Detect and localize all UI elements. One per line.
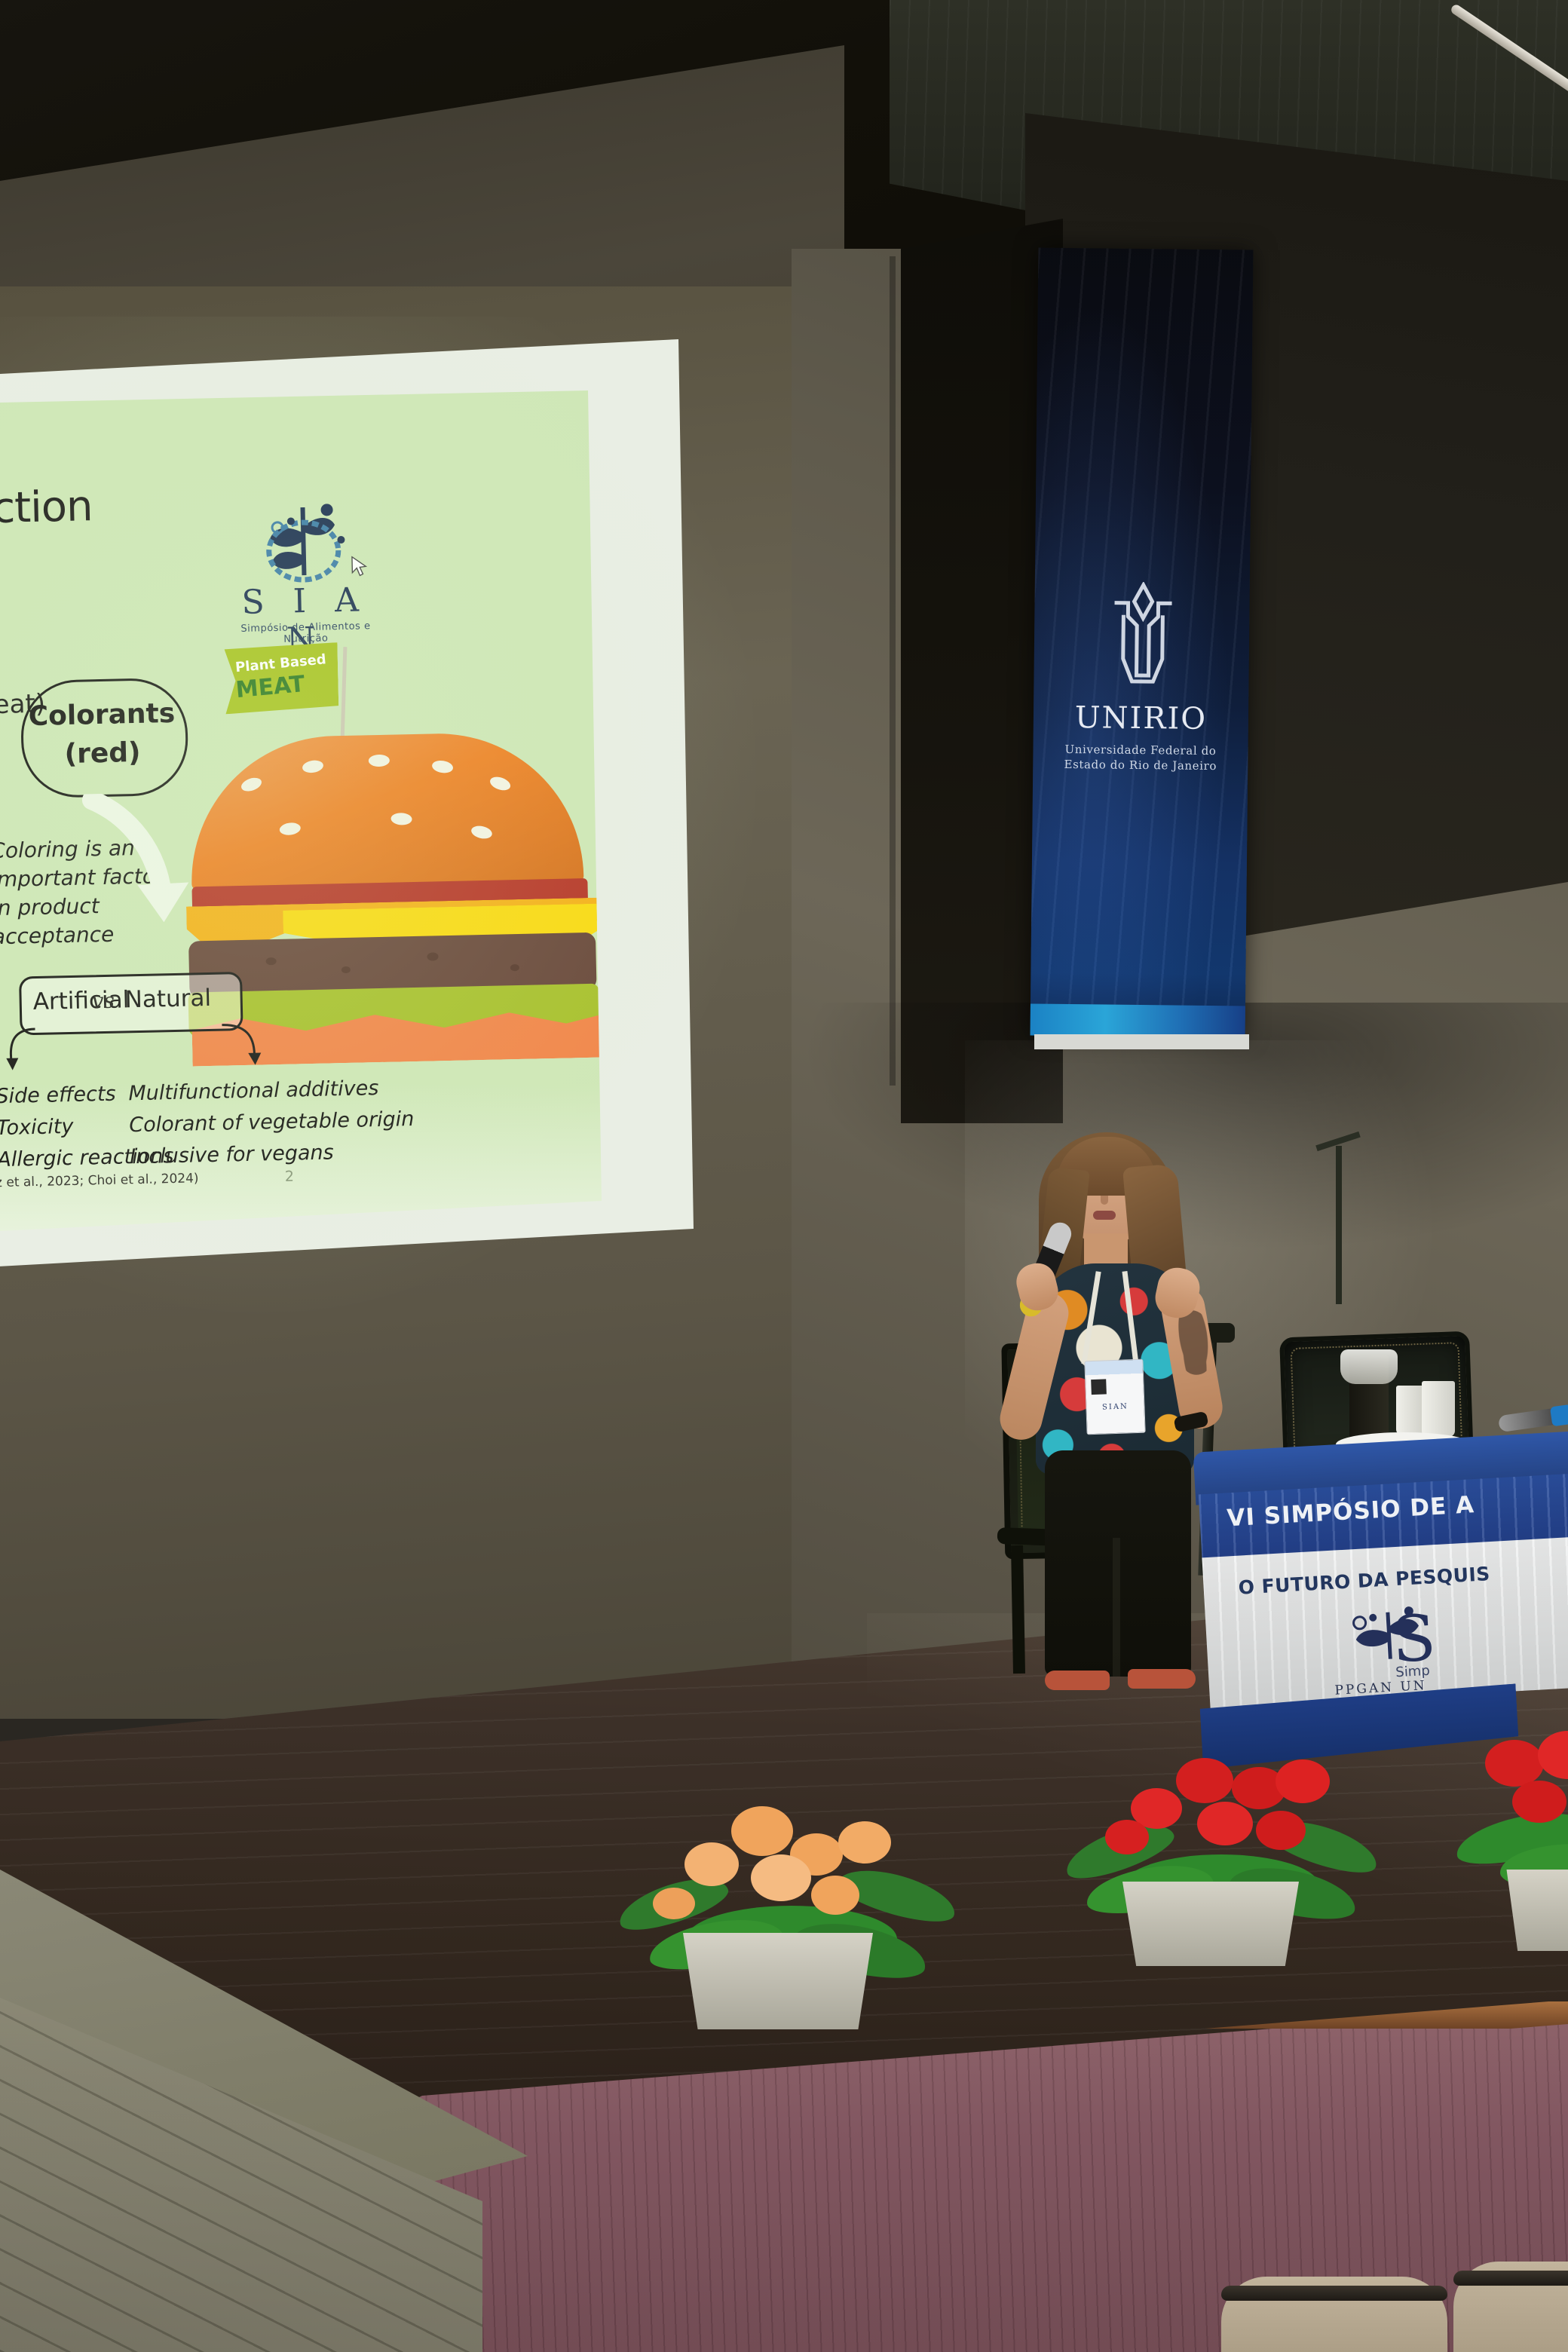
list-item: Inclusive for vegans <box>130 1135 415 1173</box>
banner-base <box>1034 1034 1249 1049</box>
red-flower-planter-right <box>1455 1726 1568 1952</box>
presentation-slide: troduction based meat) 38%) <box>0 390 633 1235</box>
slide-citation: Fernández-López et al., 2023; Choi et al… <box>0 1171 199 1193</box>
badge-text: SIAN <box>1086 1402 1144 1413</box>
wall-rod <box>1336 1146 1342 1304</box>
speaker-presenter: SIAN <box>995 1116 1221 1719</box>
sian-tagline: Simpósio de Alimentos e Nutrição <box>221 620 391 647</box>
head-table: VI SIMPÓSIO DE A O FUTURO DA PESQUIS S S… <box>1193 1431 1568 1716</box>
screenshot-root: troduction based meat) 38%) <box>0 0 1568 2352</box>
planter-pot <box>672 1933 884 2029</box>
list-item: Colorant of vegetable origin <box>129 1104 415 1141</box>
paper-cup-2[interactable] <box>1422 1381 1455 1437</box>
auditorium-seat-1[interactable] <box>1221 2277 1447 2352</box>
arrow-left-icon <box>0 1026 40 1073</box>
wall-seam <box>890 256 896 1086</box>
natural-label: Natural <box>124 985 211 1013</box>
paper-cup-1[interactable] <box>1396 1386 1425 1435</box>
shoe-right <box>1128 1669 1196 1689</box>
slide-page-number: 2 <box>285 1168 295 1185</box>
shoe-left <box>1045 1671 1110 1690</box>
unirio-banner: UNIRIO Universidade Federal do Estado do… <box>1031 248 1254 1038</box>
mouse-cursor-icon <box>351 556 368 578</box>
orange-flower-planter <box>603 1779 965 2035</box>
arrow-right-icon <box>219 1021 266 1068</box>
slide-title: troduction <box>0 482 93 535</box>
unirio-subtitle-line1: Universidade Federal do <box>1048 742 1233 759</box>
auditorium-seat-2[interactable] <box>1453 2262 1568 2352</box>
unirio-subtitle: Universidade Federal do Estado do Rio de… <box>1048 742 1233 774</box>
unirio-subtitle-line2: Estado do Rio de Janeiro <box>1048 757 1233 774</box>
vs-icon: vs <box>91 988 115 1014</box>
curved-arrow-icon <box>77 791 231 945</box>
unirio-name: UNIRIO <box>1034 700 1248 737</box>
table-sian-logo-icon <box>1315 1591 1568 1674</box>
unirio-emblem-icon <box>1106 582 1180 703</box>
natural-benefits-list: Multifunctional additives Colorant of ve… <box>128 1072 415 1173</box>
colorants-label-line1: Colorants <box>20 698 183 733</box>
red-flower-planter <box>1055 1741 1372 1968</box>
banner-footer-stripe <box>1031 1003 1245 1037</box>
projection-screen: troduction based meat) 38%) <box>0 339 724 1304</box>
conference-badge: SIAN <box>1084 1359 1145 1435</box>
colorants-label-line2: (red) <box>21 737 184 771</box>
planter-pot <box>1113 1882 1309 1966</box>
trouser-seam <box>1113 1538 1120 1677</box>
planter-pot <box>1499 1870 1568 1951</box>
mouth <box>1093 1211 1116 1220</box>
artificial-label: Artificial <box>32 986 129 1015</box>
lace-cover <box>1340 1349 1398 1384</box>
burger-illustration <box>188 730 617 1055</box>
ceiling-pipe <box>1455 0 1568 98</box>
